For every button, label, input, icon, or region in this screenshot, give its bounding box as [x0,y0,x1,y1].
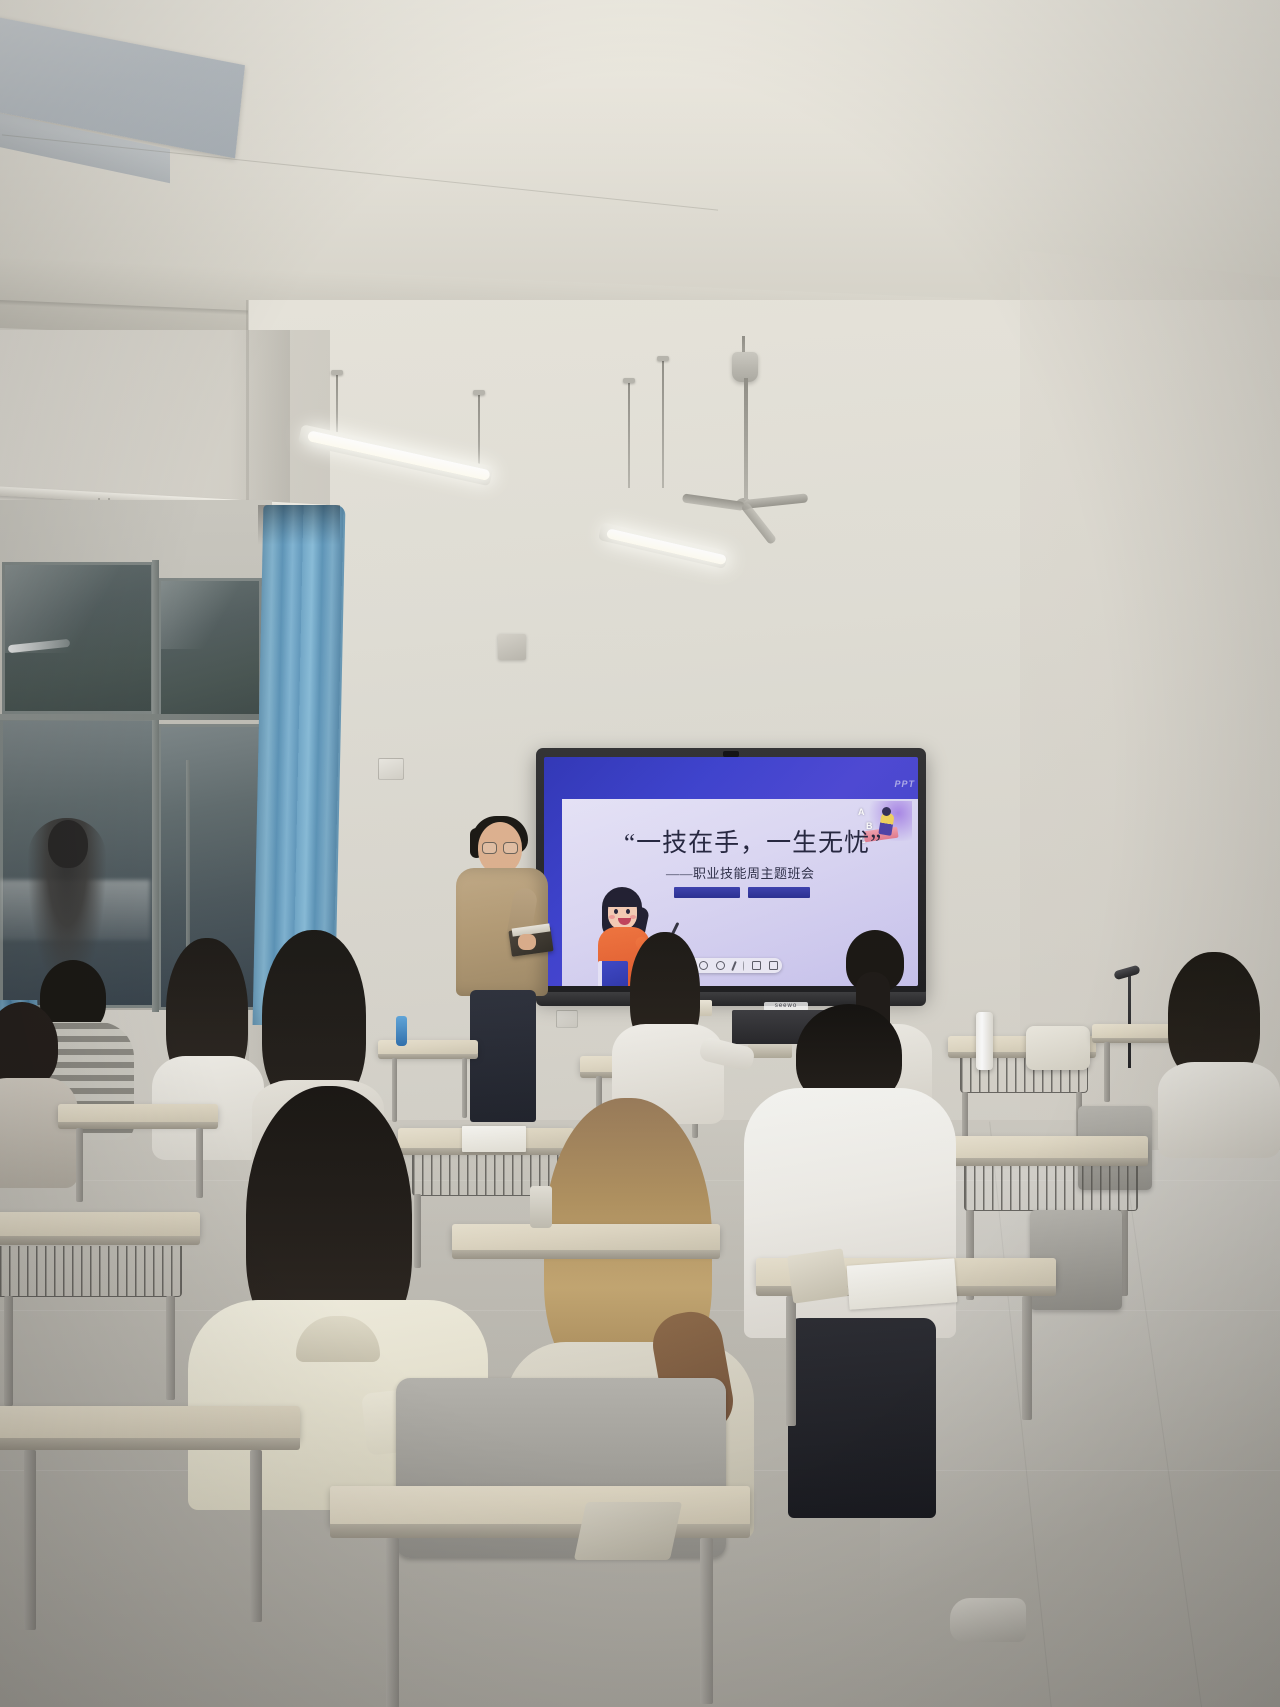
microphone-stand [1128,976,1131,1068]
fan-downrod [744,378,748,500]
curtain-shadow [258,505,340,545]
window-mullion-horizontal [0,714,266,720]
light-rod [336,372,338,434]
pen-icon[interactable] [731,960,737,970]
window-pane-upper-right [158,578,262,720]
decor-letter-a: A [858,807,865,817]
glass-reflection [161,581,259,649]
apps-icon[interactable] [769,961,778,970]
desk [0,1406,300,1440]
desk-edge [0,1236,200,1245]
tote-bag [1026,1026,1090,1070]
keyboard-icon[interactable] [752,961,761,970]
student-center-white-tee [612,932,718,1122]
desk-leg [250,1450,262,1622]
light-rod-cap [473,390,485,395]
decoration-figure-head [882,807,891,816]
student-far-right [1164,952,1274,1152]
desk [330,1486,750,1526]
light-switch[interactable] [378,758,404,780]
cartoon-eye-right [626,909,630,914]
student-shoe [950,1598,1026,1642]
student-top [0,1078,78,1188]
light-rod [628,380,630,488]
classroom-photo: PPT A B C “一技在手，一生无忧” ——职业技能周主题班会 [0,0,1280,1707]
student-hair [1168,952,1260,1080]
student-pants [788,1318,936,1518]
glasses-lens-right [503,842,518,854]
desk [948,1136,1148,1160]
desk-leg [700,1538,713,1704]
light-rod-cap [657,356,669,361]
slide-accent-bar [748,887,810,898]
student-hair [0,1002,58,1088]
light-rod-cap [623,378,635,383]
desk-edge [330,1524,750,1538]
presenter-hand [518,934,536,950]
desk-leg [1022,1296,1032,1420]
toolbar-divider-icon [743,961,744,971]
light-rod-cap [331,370,343,375]
desk-marking [574,1502,682,1560]
open-book [787,1248,849,1303]
student-far-left [0,1002,72,1172]
slide-accent-bar [674,887,740,898]
desk-basket [964,1166,1138,1211]
cartoon-eye-left [614,909,618,914]
slide-title: “一技在手，一生无忧” [624,831,882,856]
desk-leg [1104,1042,1110,1102]
light-rod [662,358,664,488]
slide-watermark: PPT [894,779,915,789]
cartoon-bangs [605,891,640,907]
spiral-notebook [847,1258,958,1309]
desk-edge [0,1438,300,1450]
glasses-lens-left [482,842,497,854]
slide-subtitle: ——职业技能周主题班会 [666,863,815,882]
glasses-icon [482,842,520,854]
desk-leg [4,1296,13,1406]
glass-reflection [5,565,151,653]
desk-basket [0,1246,182,1297]
desk-edge [948,1158,1148,1166]
desk-leg [76,1128,83,1202]
desk-leg [166,1296,175,1400]
window-reflection-person-head [48,820,88,868]
drink-can [396,1016,407,1046]
window-pane-upper-left [2,562,154,714]
wall-speaker [498,634,526,660]
student-top [1158,1062,1280,1158]
desk [452,1224,720,1252]
desk-leg [386,1538,399,1707]
cup [530,1186,552,1228]
cartoon-cheek-left [609,915,615,919]
desk-leg [786,1296,796,1426]
desk [0,1212,200,1238]
desk-edge [452,1250,720,1259]
desk-leg [24,1450,36,1630]
white-thermos [976,1012,993,1070]
